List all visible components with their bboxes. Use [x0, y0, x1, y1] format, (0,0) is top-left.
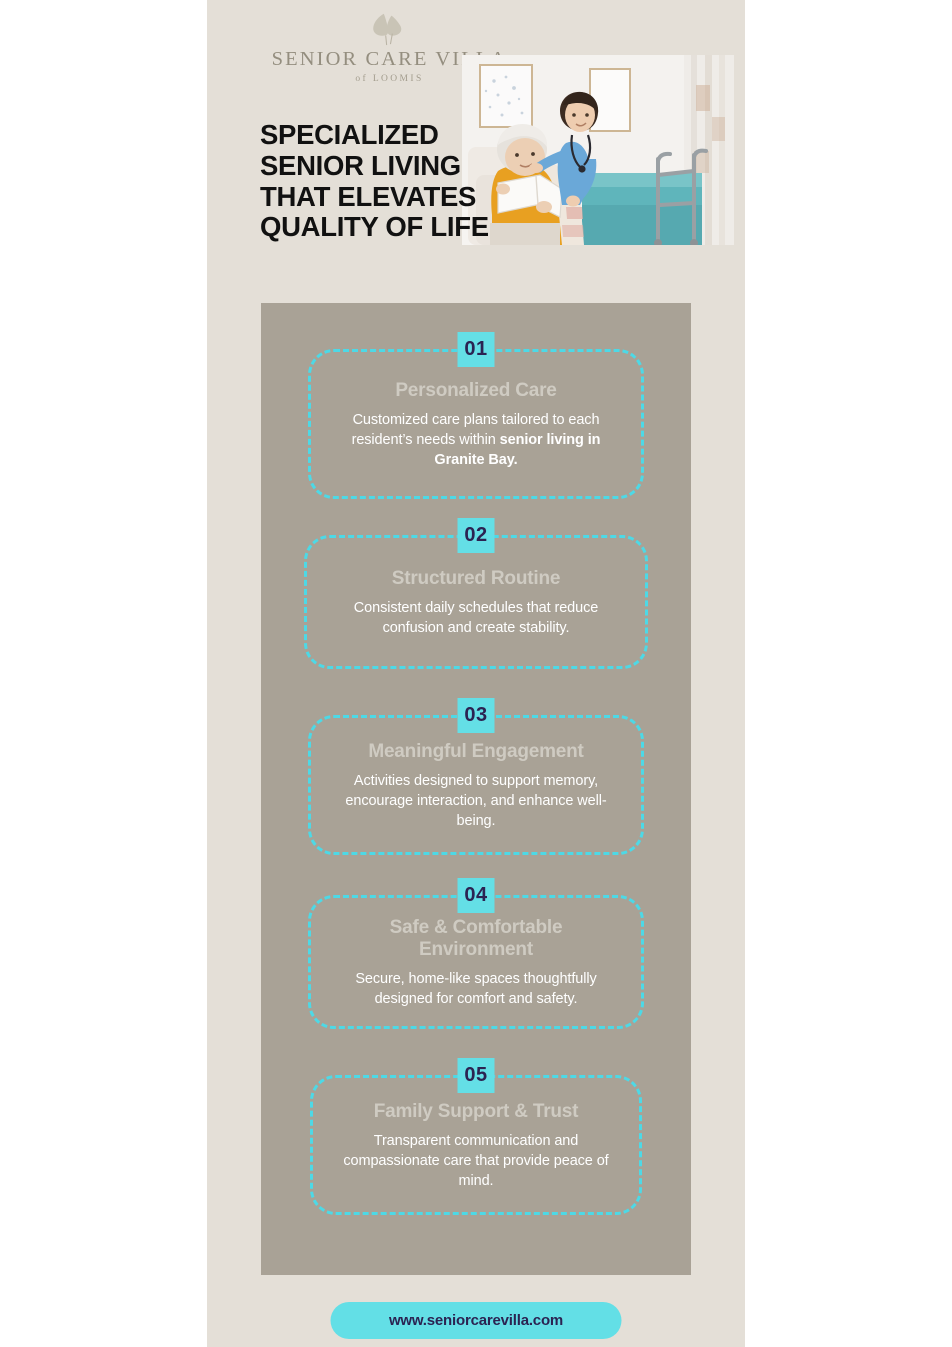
feature-card-title: Structured Routine	[392, 568, 560, 590]
feature-card-body: Transparent communication and compassion…	[335, 1131, 617, 1191]
feature-card-body-text: Activities designed to support memory, e…	[345, 773, 606, 829]
feature-card-title: Meaningful Engagement	[368, 741, 583, 763]
feature-card-body: Customized care plans tailored to each r…	[333, 410, 619, 470]
card-number-badge: 02	[458, 518, 495, 553]
feature-card: Safe & Comfortable EnvironmentSecure, ho…	[308, 895, 644, 1029]
feature-card-body: Consistent daily schedules that reduce c…	[329, 598, 623, 638]
card-number-badge: 03	[458, 698, 495, 733]
feature-card-body-text: Secure, home-like spaces thoughtfully de…	[355, 971, 596, 1007]
feature-card-title: Safe & Comfortable Environment	[333, 917, 619, 962]
feature-card-body: Secure, home-like spaces thoughtfully de…	[333, 969, 619, 1009]
feature-card: Meaningful EngagementActivities designed…	[308, 715, 644, 855]
hero-photo	[462, 55, 734, 245]
feature-cards-panel: 01Personalized CareCustomized care plans…	[261, 303, 691, 1275]
card-number-badge: 04	[458, 878, 495, 913]
feature-card-body-text: Consistent daily schedules that reduce c…	[354, 600, 598, 636]
feature-card-title: Family Support & Trust	[374, 1101, 579, 1123]
feature-card: Structured RoutineConsistent daily sched…	[304, 535, 648, 669]
feature-card: Family Support & TrustTransparent commun…	[310, 1075, 642, 1215]
card-number-badge: 01	[458, 332, 495, 367]
hero-photo-illustration	[462, 55, 734, 245]
page-headline: SPECIALIZED SENIOR LIVING THAT ELEVATES …	[260, 120, 489, 243]
feature-card-body: Activities designed to support memory, e…	[333, 771, 619, 831]
feature-card: Personalized CareCustomized care plans t…	[308, 349, 644, 499]
ginkgo-leaf-icon	[361, 8, 418, 46]
feature-card-title: Personalized Care	[395, 380, 556, 402]
infographic-page: SENIOR CARE VILLA of LOOMIS	[207, 0, 745, 1347]
header-section: SENIOR CARE VILLA of LOOMIS	[207, 0, 745, 275]
feature-card-body-text: Transparent communication and compassion…	[343, 1133, 608, 1189]
website-url-button[interactable]: www.seniorcarevilla.com	[331, 1302, 622, 1339]
card-number-badge: 05	[458, 1058, 495, 1093]
